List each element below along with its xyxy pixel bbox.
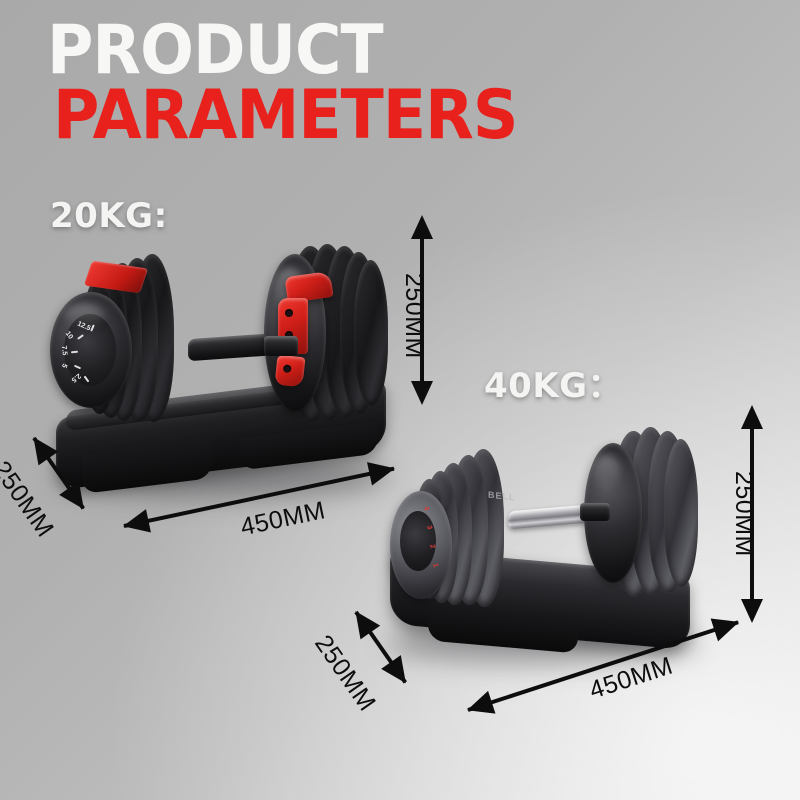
dial-number-ring: 12.5107.552.5 — [50, 292, 132, 408]
dial-number-strip-40: 4321 — [390, 491, 452, 599]
dial-tick — [84, 376, 90, 383]
dimension-depth-20kg: 250MM — [8, 424, 118, 534]
dial-value: 2.5 — [70, 372, 82, 383]
dimension-width-20kg: 450MM — [118, 466, 398, 546]
dimension-depth-20kg-label: 250MM — [0, 456, 59, 543]
dimension-width-40kg: 450MM — [462, 626, 752, 726]
dimension-width-40kg-label: 450MM — [586, 651, 677, 705]
dial-value: 12.5 — [76, 320, 91, 332]
hub-collar — [264, 336, 298, 356]
dial-tick — [71, 350, 78, 353]
dial-value: 10 — [63, 331, 73, 341]
dial-value-40: 2 — [428, 544, 436, 549]
dial-tick — [73, 365, 80, 370]
product-label-40kg: 40KG： — [484, 358, 622, 407]
product-label-20kg: 20KG: — [50, 196, 168, 236]
hub-collar-40 — [580, 503, 610, 521]
product-parameters-infographic: PRODUCT PARAMETERS 20KG: 12.5107.552.5 — [0, 0, 800, 800]
dimension-height-40kg: 250MM — [728, 405, 776, 623]
dial-value: 5 — [60, 362, 68, 368]
dial-value: 7.5 — [60, 345, 68, 355]
dimension-height-20kg-label: 250MM — [399, 273, 428, 359]
title-line-product: PRODUCT — [47, 20, 517, 83]
dimension-depth-40kg-label: 250MM — [308, 630, 381, 717]
dimension-height-40kg-label: 250MM — [729, 471, 758, 557]
dimension-height-20kg: 250MM — [398, 215, 446, 405]
title-line-parameters: PARAMETERS — [53, 85, 518, 148]
dial-value-40: 3 — [425, 525, 433, 530]
dimension-depth-40kg: 250MM — [332, 600, 442, 710]
dial-tick — [77, 334, 84, 340]
page-title: PRODUCT PARAMETERS — [47, 20, 553, 147]
dial-value-40: 4 — [422, 506, 430, 511]
dial-value-40: 1 — [431, 563, 439, 568]
dimension-width-20kg-label: 450MM — [238, 496, 328, 542]
